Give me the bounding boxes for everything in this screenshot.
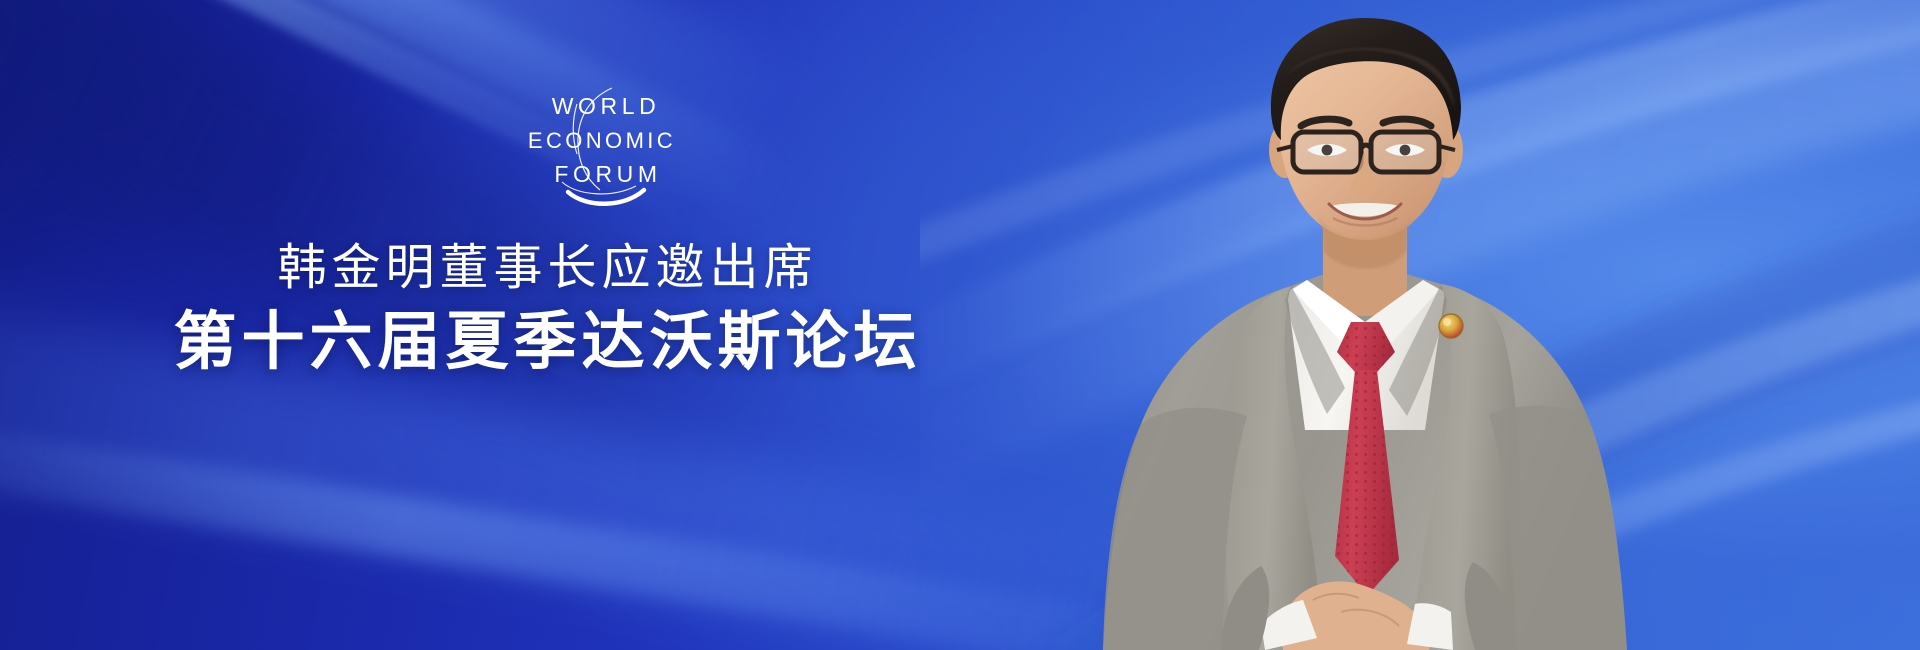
logo-line-economic: ECONOMIC [528, 128, 676, 153]
background-shadow-top-left [0, 0, 580, 260]
headline-line-2: 第十六届夏季达沃斯论坛 [0, 302, 1090, 382]
logo-line-forum: FORUM [554, 161, 661, 187]
chairman-portrait [1055, 0, 1675, 650]
shirt-cuff-right [1407, 603, 1453, 650]
world-economic-forum-logo: WORLD ECONOMIC FORUM [516, 86, 692, 198]
banner-headline: 韩金明董事长应邀出席 第十六届夏季达沃斯论坛 [0, 236, 1090, 382]
headline-line-1: 韩金明董事长应邀出席 [0, 236, 1090, 300]
logo-line-world: WORLD [552, 93, 661, 119]
wef-forum-banner: WORLD ECONOMIC FORUM 韩金明董事长应邀出席 第十六届夏季达沃… [0, 0, 1920, 650]
